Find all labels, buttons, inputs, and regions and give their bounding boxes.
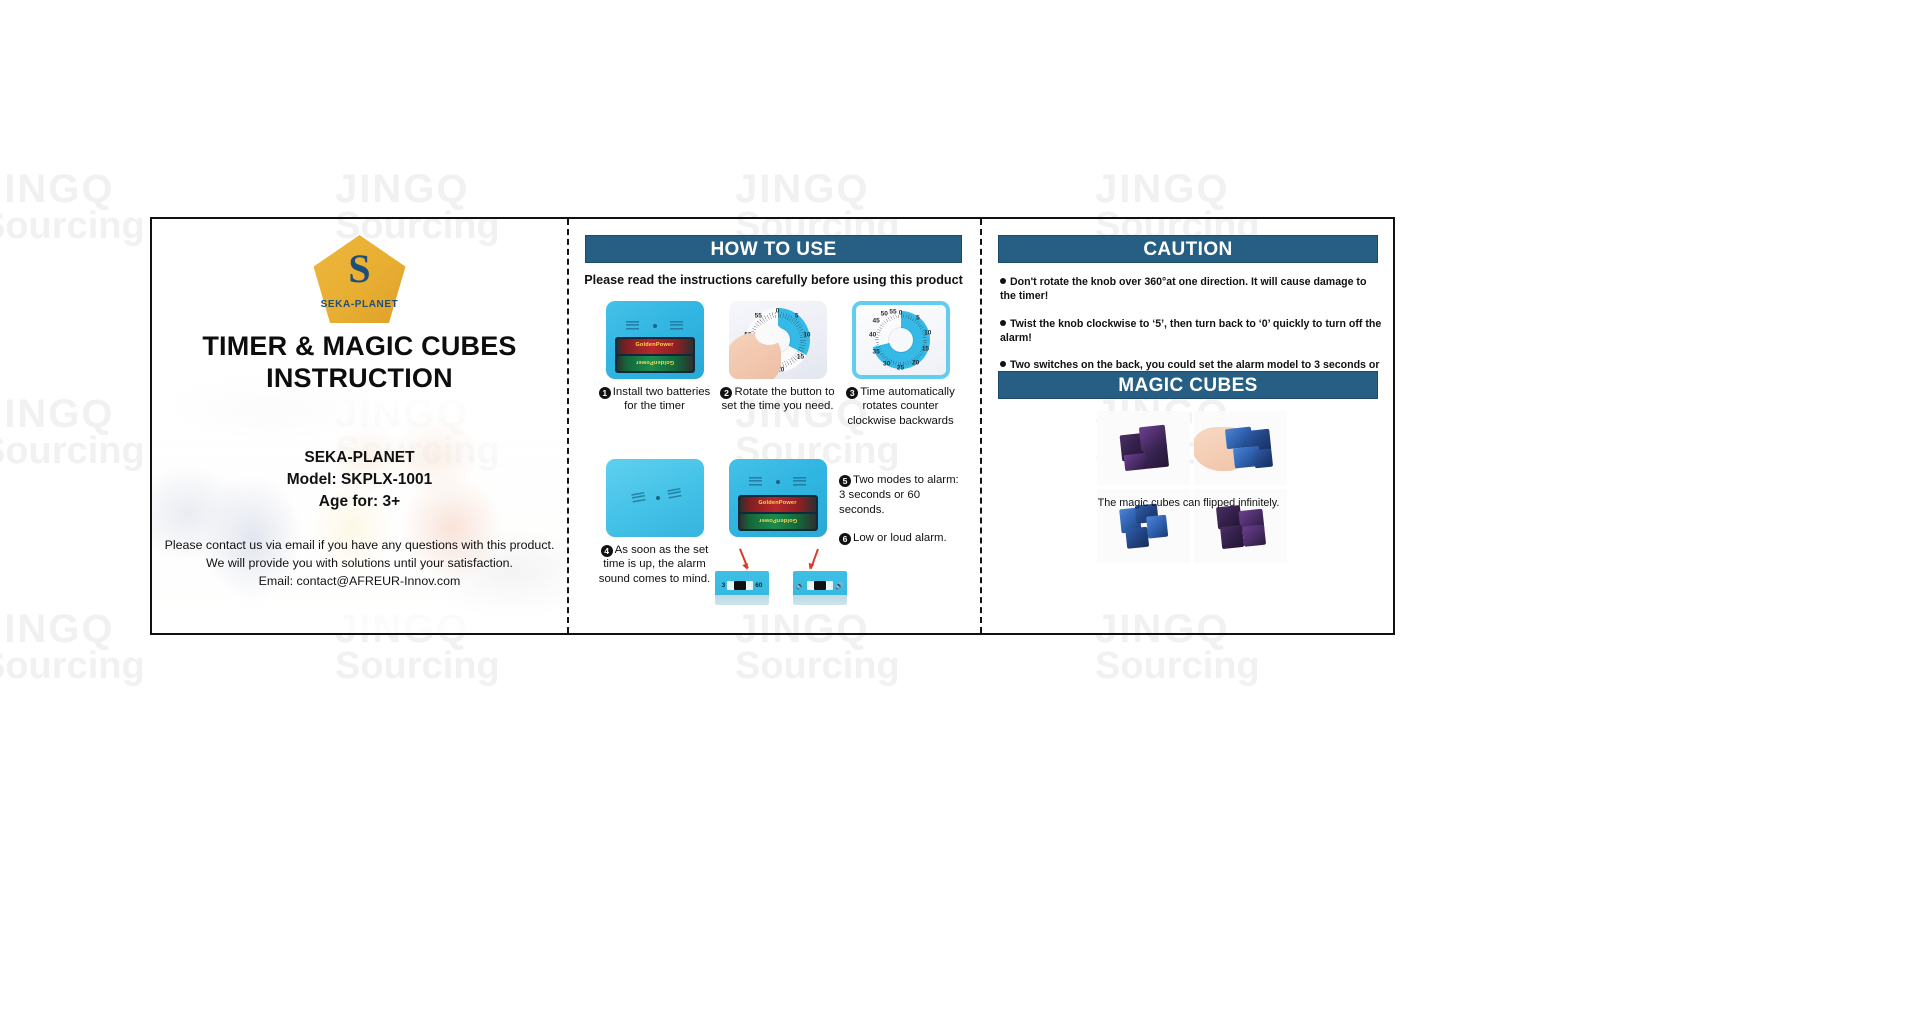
brand-name: SEKA-PLANET (172, 447, 547, 469)
watermark: JINGQ Sourcing (0, 170, 145, 244)
logo-s-mark: S (314, 249, 406, 289)
instruction-sheet: S SEKA-PLANET TIMER & MAGIC CUBES INSTRU… (150, 217, 1395, 635)
dial-label-10: 10 (803, 331, 810, 338)
step-1-caption: 1Install two batteries for the timer (593, 385, 716, 414)
how-to-use-panel: HOW TO USE Please read the instructions … (567, 219, 980, 633)
mode-switch-left-label: 3 (722, 582, 726, 589)
step-number-3: 3 (846, 387, 858, 399)
battery-compartment: GoldenPower GoldenPower (738, 495, 818, 531)
caution-heading: CAUTION (998, 235, 1378, 263)
age-rating: Age for: 3+ (172, 491, 547, 513)
battery-aa-1: GoldenPower (740, 497, 816, 512)
step-number-6: 6 (839, 533, 851, 545)
volume-switch-track[interactable] (807, 581, 833, 590)
dial-label-5: 5 (916, 314, 920, 321)
dial-label-40: 40 (869, 332, 876, 339)
contact-line-1: Please contact us via email if you have … (164, 537, 555, 555)
caution-item: Don't rotate the knob over 360°at one di… (1000, 275, 1383, 304)
switch-callouts: 3 60 🔈 🔊 (715, 549, 847, 605)
infinity-cube-purple (1118, 425, 1168, 472)
speaker-vent-icon (626, 321, 639, 330)
mode-switch-right-label: 60 (755, 582, 762, 589)
knob-cap (755, 323, 783, 345)
cube-photo (1097, 411, 1190, 485)
bullet-icon (1000, 361, 1006, 367)
timer-battery-photo: GoldenPower GoldenPower (606, 301, 704, 379)
speaker-low-icon: 🔈 (796, 582, 805, 590)
dial-label-50: 50 (881, 311, 888, 318)
cube-in-hand-photo (1194, 411, 1287, 485)
dial-label-15: 15 (922, 346, 929, 353)
step-2-caption: 2Rotate the button to set the time you n… (716, 385, 839, 414)
step-4-text: As soon as the set time is up, the alarm… (599, 544, 710, 585)
step-1: GoldenPower GoldenPower 1Install two bat… (593, 301, 716, 428)
step-3-caption: 3Time automatically rotates counter cloc… (839, 385, 962, 428)
mode-switch-knob[interactable] (734, 581, 746, 590)
magic-cubes-gallery (1097, 411, 1287, 563)
dial-label-30: 30 (883, 361, 890, 368)
logo-brand-name: SEKA-PLANET (314, 299, 406, 310)
mode-switch-track[interactable] (727, 581, 753, 590)
arrow-to-volume-switch-icon (810, 549, 819, 569)
battery-aa-2: GoldenPower (740, 514, 816, 529)
magic-cubes-caption: The magic cubes can flipped infinitely. (980, 497, 1397, 509)
speaker-vent-icon (670, 321, 683, 330)
battery-aa-1: GoldenPower (617, 339, 693, 354)
contact-block: Please contact us via email if you have … (164, 537, 555, 591)
timer-knob-photo: 0 5 10 15 20 50 55 (729, 301, 827, 379)
reset-dot-icon (776, 480, 780, 484)
volume-switch-detail: 🔈 🔊 (793, 571, 847, 605)
step-6-text: Low or loud alarm. (853, 532, 947, 544)
timer-front-photo (606, 459, 704, 537)
dial-label-45: 45 (873, 318, 880, 325)
infinity-cube-blue (1223, 425, 1273, 472)
contact-email: Email: contact@AFREUR-Innov.com (164, 573, 555, 591)
bullet-icon (1000, 320, 1006, 326)
page-title-line1: TIMER & MAGIC CUBES (172, 331, 547, 363)
steps-5-6-text: 5Two modes to alarm: 3 seconds or 60 sec… (839, 459, 963, 586)
step-4: 4As soon as the set time is up, the alar… (593, 459, 716, 586)
step-3: 0 5 10 15 20 25 30 35 40 45 50 55 (839, 301, 962, 428)
model-number: Model: SKPLX-1001 (172, 469, 547, 491)
speaker-vent-icon (667, 488, 681, 499)
steps-row-1: GoldenPower GoldenPower 1Install two bat… (593, 301, 963, 428)
volume-switch-knob[interactable] (814, 581, 826, 590)
battery-compartment: GoldenPower GoldenPower (615, 337, 695, 373)
timer-dial: 0 5 10 15 20 25 30 35 40 45 50 55 (872, 311, 930, 369)
caution-item-text: Don't rotate the knob over 360°at one di… (1000, 276, 1366, 302)
timer-countdown-photo: 0 5 10 15 20 25 30 35 40 45 50 55 (852, 301, 950, 379)
callout-arrows (715, 549, 847, 571)
how-to-use-subtitle: Please read the instructions carefully b… (577, 273, 970, 287)
dial-label-25: 25 (897, 365, 904, 372)
step-2: 0 5 10 15 20 50 55 2Rotate the button to… (716, 301, 839, 428)
speaker-vent-icon (793, 477, 806, 486)
step-4-caption: 4As soon as the set time is up, the alar… (593, 543, 716, 586)
contact-line-2: We will provide you with solutions until… (164, 555, 555, 573)
step-number-5: 5 (839, 475, 851, 487)
switch-detail-pair: 3 60 🔈 🔊 (715, 571, 847, 605)
step-5-caption: 5Two modes to alarm: 3 seconds or 60 sec… (839, 473, 963, 517)
watermark: JINGQ Sourcing (0, 610, 145, 684)
speaker-vent-icon (749, 477, 762, 486)
seka-planet-logo: S SEKA-PLANET (314, 235, 406, 323)
dial-label-55: 55 (755, 313, 762, 320)
caution-magic-cubes-panel: CAUTION Don't rotate the knob over 360°a… (980, 219, 1397, 633)
timer-back-switches-photo: GoldenPower GoldenPower (729, 459, 827, 537)
step-1-text: Install two batteries for the timer (613, 386, 711, 412)
dial-label-35: 35 (873, 348, 880, 355)
how-to-use-heading: HOW TO USE (585, 235, 962, 263)
speaker-vent-icon (631, 492, 645, 503)
dial-label-0: 0 (899, 310, 903, 317)
dial-hub (889, 328, 913, 352)
page-title-line2: INSTRUCTION (172, 363, 547, 395)
logo-wrapper: S SEKA-PLANET (152, 235, 567, 323)
product-info-block: SEKA-PLANET Model: SKPLX-1001 Age for: 3… (172, 447, 547, 513)
infinity-cube-purple-folded (1215, 503, 1265, 550)
step-number-2: 2 (720, 387, 732, 399)
infinity-cube-blue-folded (1118, 503, 1168, 550)
dial-label-15: 15 (797, 353, 804, 360)
dial-label-55: 55 (889, 309, 896, 316)
arrow-to-mode-switch-icon (739, 549, 748, 569)
manual-page: JINGQ Sourcing JINGQ Sourcing JINGQ Sour… (0, 0, 1920, 1022)
step-5-text: Two modes to alarm: 3 seconds or 60 seco… (839, 474, 959, 516)
magic-cubes-heading: MAGIC CUBES (998, 371, 1378, 399)
step-number-1: 1 (599, 387, 611, 399)
speaker-loud-icon: 🔊 (835, 582, 844, 590)
mode-switch-detail: 3 60 (715, 571, 769, 605)
caution-item-text: Twist the knob clockwise to ‘5’, then tu… (1000, 318, 1381, 344)
watermark: JINGQ Sourcing (0, 395, 145, 469)
dial-label-5: 5 (795, 313, 799, 320)
indicator-dot-icon (656, 496, 660, 500)
cover-panel: S SEKA-PLANET TIMER & MAGIC CUBES INSTRU… (152, 219, 567, 633)
bullet-icon (1000, 278, 1006, 284)
battery-aa-2: GoldenPower (617, 356, 693, 371)
page-title: TIMER & MAGIC CUBES INSTRUCTION (172, 331, 547, 395)
step-number-4: 4 (601, 545, 613, 557)
step-2-text: Rotate the button to set the time you ne… (721, 386, 834, 412)
dial-label-20: 20 (912, 360, 919, 367)
step-6-caption: 6Low or loud alarm. (839, 531, 963, 546)
step-3-text: Time automatically rotates counter clock… (847, 386, 954, 427)
reset-dot-icon (653, 324, 657, 328)
caution-item: Twist the knob clockwise to ‘5’, then tu… (1000, 317, 1383, 346)
dial-label-0: 0 (776, 308, 780, 315)
dial-label-10: 10 (924, 330, 931, 337)
